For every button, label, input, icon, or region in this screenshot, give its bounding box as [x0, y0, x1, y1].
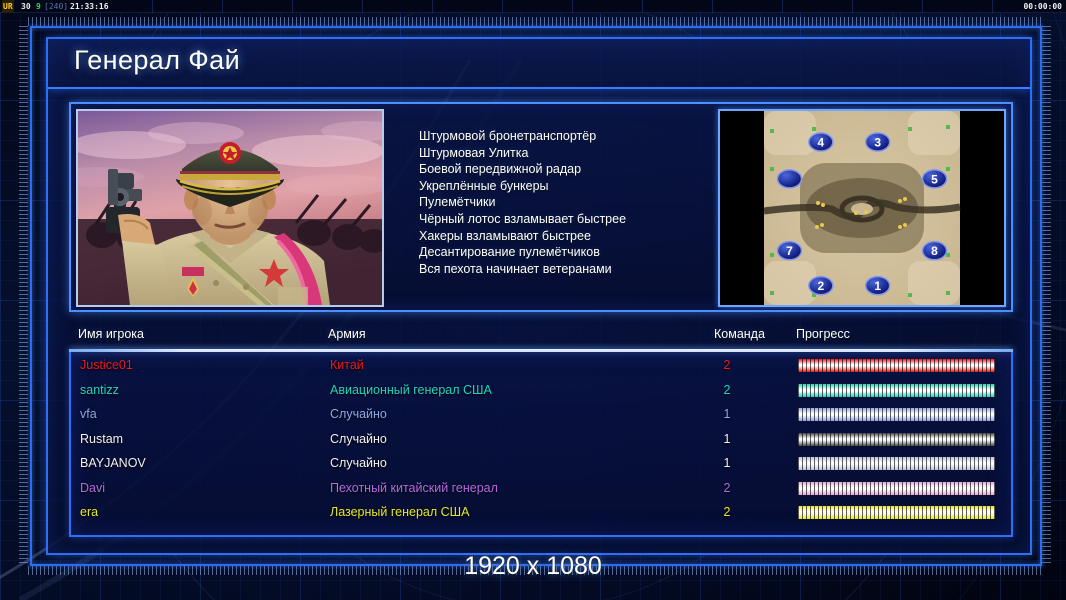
- column-header-team: Команда: [714, 327, 765, 341]
- player-name: Justice01: [80, 358, 133, 372]
- player-table-header: Имя игрока Армия Команда Прогресс: [48, 327, 1030, 349]
- ability-item: Боевой передвижной радар: [419, 161, 719, 178]
- table-row[interactable]: DaviПехотный китайский генерал2: [71, 479, 1011, 504]
- progress-bar-track: [798, 506, 995, 519]
- panel-title-bar: Генерал Фай: [48, 39, 1030, 89]
- player-name: BAYJANOV: [80, 456, 146, 470]
- player-army: Лазерный генерал США: [330, 505, 469, 519]
- map-start-position-label: 3: [874, 136, 881, 150]
- page-title: Генерал Фай: [74, 45, 240, 76]
- progress-bar-track: [798, 359, 995, 372]
- ability-item: Хакеры взламывают быстрее: [419, 228, 719, 245]
- ability-item: Пулемётчики: [419, 194, 719, 211]
- status-clock: 21:33:16: [70, 0, 109, 13]
- frame-line-right: [1040, 26, 1042, 566]
- player-team: 2: [717, 358, 737, 372]
- minimap-preview[interactable]: 4357821: [718, 109, 1006, 307]
- player-army: Случайно: [330, 407, 387, 421]
- player-army: Авиационный генерал США: [330, 383, 492, 397]
- table-row[interactable]: RustamСлучайно1: [71, 430, 1011, 455]
- column-header-progress: Прогресс: [796, 327, 850, 341]
- player-team: 2: [717, 383, 737, 397]
- column-header-army: Армия: [328, 327, 366, 341]
- player-list: Justice01Китай2santizzАвиационный генера…: [69, 352, 1013, 537]
- ability-item: Чёрный лотос взламывает быстрее: [419, 211, 719, 228]
- ability-item: Укреплённые бункеры: [419, 178, 719, 195]
- frame-line-left: [30, 26, 32, 566]
- general-portrait: [76, 109, 384, 307]
- progress-bar-track: [798, 408, 995, 421]
- player-team: 2: [717, 481, 737, 495]
- player-army: Китай: [330, 358, 364, 372]
- map-start-position-label: 8: [931, 244, 938, 258]
- status-tag: UR: [2, 0, 14, 13]
- progress-bar-fill: [798, 482, 995, 495]
- map-start-position[interactable]: [777, 170, 801, 188]
- ability-item: Штурмовой бронетранспортёр: [419, 128, 719, 145]
- table-row[interactable]: vfaСлучайно1: [71, 405, 1011, 430]
- ability-item: Десантирование пулемётчиков: [419, 244, 719, 261]
- progress-bar-fill: [798, 506, 995, 519]
- table-row[interactable]: eraЛазерный генерал США2: [71, 503, 1011, 528]
- player-army: Пехотный китайский генерал: [330, 481, 498, 495]
- resolution-label: 1920 x 1080: [0, 552, 1066, 581]
- general-info-panel: Генерал Фай: [46, 37, 1032, 555]
- player-team: 1: [717, 432, 737, 446]
- column-header-name: Имя игрока: [78, 327, 144, 341]
- player-name: Davi: [80, 481, 105, 495]
- map-start-position-label: 1: [874, 279, 881, 293]
- ability-item: Штурмовая Улитка: [419, 145, 719, 162]
- ruler-right: [1042, 26, 1051, 566]
- table-row[interactable]: Justice01Китай2: [71, 356, 1011, 381]
- progress-bar-track: [798, 433, 995, 446]
- progress-bar-fill: [798, 457, 995, 470]
- table-row[interactable]: santizzАвиационный генерал США2: [71, 381, 1011, 406]
- progress-bar-track: [798, 384, 995, 397]
- player-army: Случайно: [330, 456, 387, 470]
- status-bar: UR 30 9 [240] 21:33:16 00:00:00: [0, 0, 1066, 13]
- status-value-2: 9: [36, 0, 41, 13]
- progress-bar-track: [798, 482, 995, 495]
- player-name: era: [80, 505, 98, 519]
- status-value-1: 30: [21, 0, 31, 13]
- player-team: 1: [717, 407, 737, 421]
- player-name: vfa: [80, 407, 97, 421]
- player-army: Случайно: [330, 432, 387, 446]
- frame-line-top: [30, 26, 1042, 28]
- map-start-position-label: 7: [786, 244, 793, 258]
- ability-item: Вся пехота начинает ветеранами: [419, 261, 719, 278]
- progress-bar-fill: [798, 408, 995, 421]
- player-team: 1: [717, 456, 737, 470]
- player-team: 2: [717, 505, 737, 519]
- progress-bar-track: [798, 457, 995, 470]
- status-right-clock: 00:00:00: [1023, 0, 1062, 13]
- ruler-top: [28, 17, 1042, 26]
- status-bracket: [240]: [44, 0, 68, 13]
- ruler-left: [19, 26, 28, 566]
- progress-bar-fill: [798, 384, 995, 397]
- map-start-position-label: 2: [817, 279, 824, 293]
- table-row[interactable]: BAYJANOVСлучайно1: [71, 454, 1011, 479]
- general-details-box: Штурмовой бронетранспортёр Штурмовая Ули…: [69, 102, 1013, 312]
- progress-bar-fill: [798, 433, 995, 446]
- map-start-position-label: 4: [817, 136, 824, 150]
- player-name: Rustam: [80, 432, 123, 446]
- progress-bar-fill: [798, 359, 995, 372]
- player-name: santizz: [80, 383, 119, 397]
- ability-list: Штурмовой бронетранспортёр Штурмовая Ули…: [419, 128, 719, 277]
- map-start-position-label: 5: [931, 172, 938, 186]
